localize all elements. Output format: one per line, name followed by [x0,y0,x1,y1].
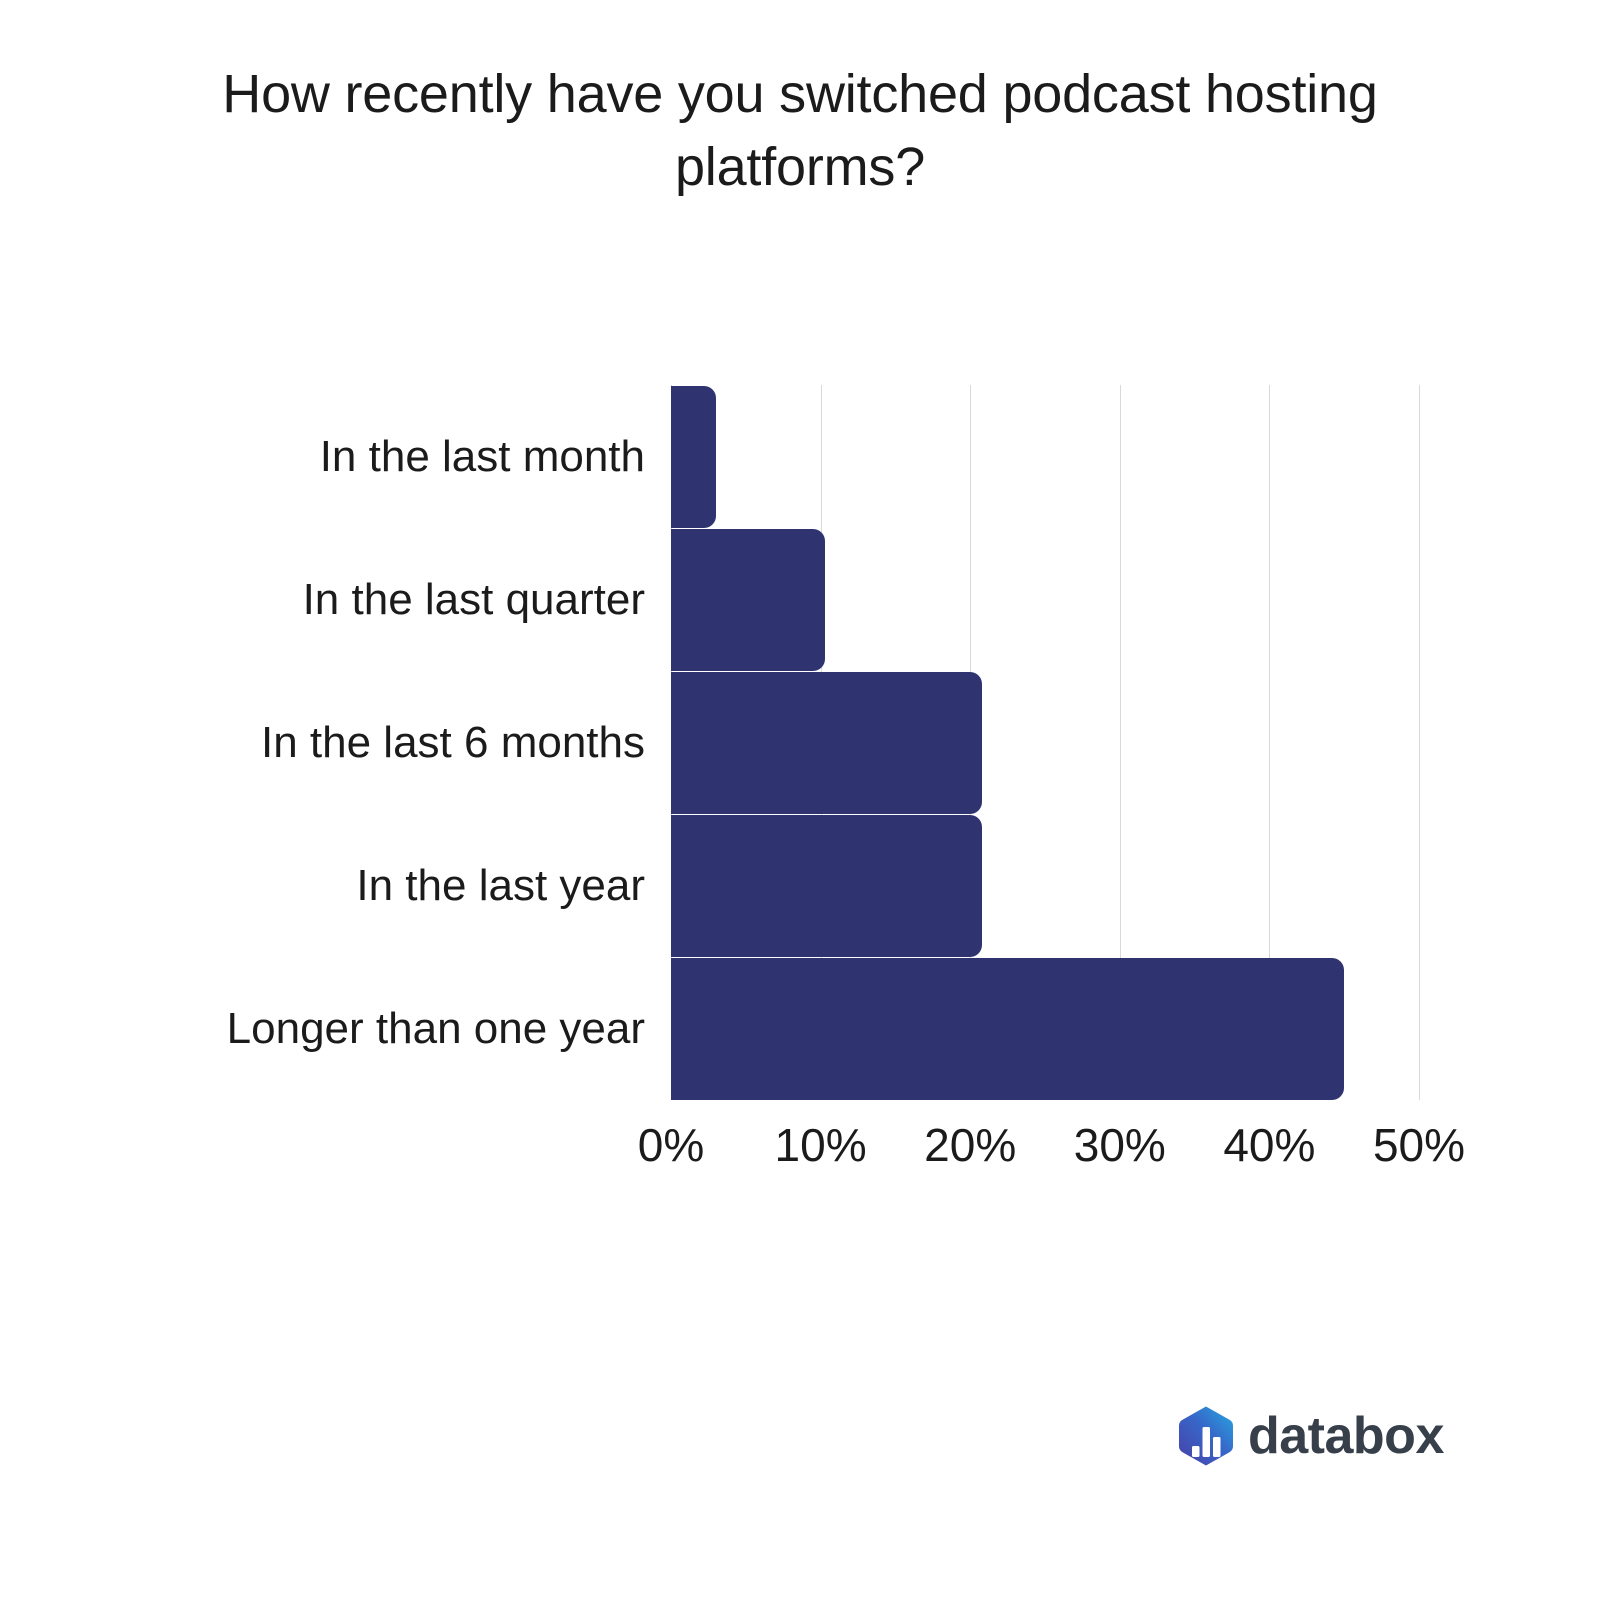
bar-1[interactable] [671,386,716,528]
x-tick-20%: 20% [924,1118,1016,1172]
bar-2[interactable] [671,529,825,671]
bar-row [671,386,1419,528]
category-label-5: Longer than one year [227,958,645,1100]
bar-chart: In the last monthIn the last quarterIn t… [0,0,1600,1600]
x-tick-10%: 10% [775,1118,867,1172]
gridline-50% [1419,385,1420,1100]
x-tick-50%: 50% [1373,1118,1465,1172]
bar-row [671,958,1419,1100]
bar-row [671,529,1419,671]
category-label-3: In the last 6 months [261,672,645,814]
bar-row [671,672,1419,814]
bar-row [671,815,1419,957]
category-label-4: In the last year [356,815,645,957]
plot-area [671,385,1419,1100]
databox-wordmark: databox [1248,1410,1444,1462]
databox-hexagon-icon [1178,1405,1234,1467]
category-axis-labels: In the last monthIn the last quarterIn t… [100,385,645,1100]
bar-5[interactable] [671,958,1344,1100]
chart-page: How recently have you switched podcast h… [0,0,1600,1600]
x-tick-40%: 40% [1223,1118,1315,1172]
bar-series [671,385,1419,1100]
x-tick-0%: 0% [638,1118,704,1172]
bar-4[interactable] [671,815,982,957]
category-label-2: In the last quarter [303,529,645,671]
x-tick-30%: 30% [1074,1118,1166,1172]
x-axis-tick-labels: 0%10%20%30%40%50% [0,1118,1600,1188]
category-label-1: In the last month [320,386,645,528]
bar-3[interactable] [671,672,982,814]
databox-logo: databox [1178,1405,1444,1467]
